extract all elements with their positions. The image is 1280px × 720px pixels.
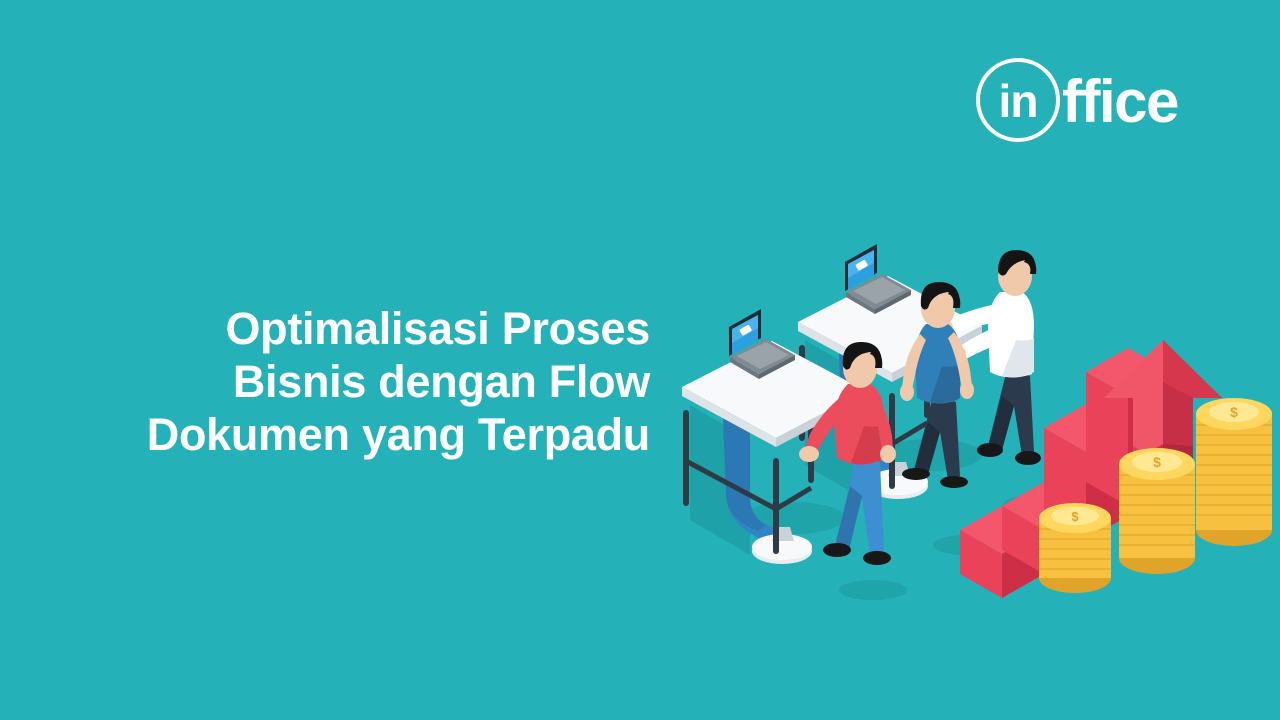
headline: Optimalisasi Proses Bisnis dengan Flow D… [20, 302, 650, 461]
logo-circle-icon: in [976, 58, 1060, 142]
brand-logo[interactable]: in ffice [976, 58, 1178, 142]
coin-stack: $ [1119, 448, 1195, 574]
headline-line-2: Bisnis dengan Flow [20, 355, 650, 408]
logo-mark-text: in [999, 78, 1038, 124]
coin-stack: $ [1039, 503, 1111, 593]
logo-wordmark: ffice [1062, 72, 1178, 132]
headline-line-1: Optimalisasi Proses [20, 302, 650, 355]
headline-line-3: Dokumen yang Terpadu [20, 408, 650, 461]
svg-text:$: $ [1071, 509, 1079, 524]
svg-text:$: $ [1230, 404, 1238, 420]
illustration: $ $ [630, 200, 1280, 640]
coin-stack: $ [1196, 398, 1272, 546]
banner-root: in ffice Optimalisasi Proses Bisnis deng… [0, 0, 1280, 720]
svg-text:$: $ [1153, 454, 1161, 470]
